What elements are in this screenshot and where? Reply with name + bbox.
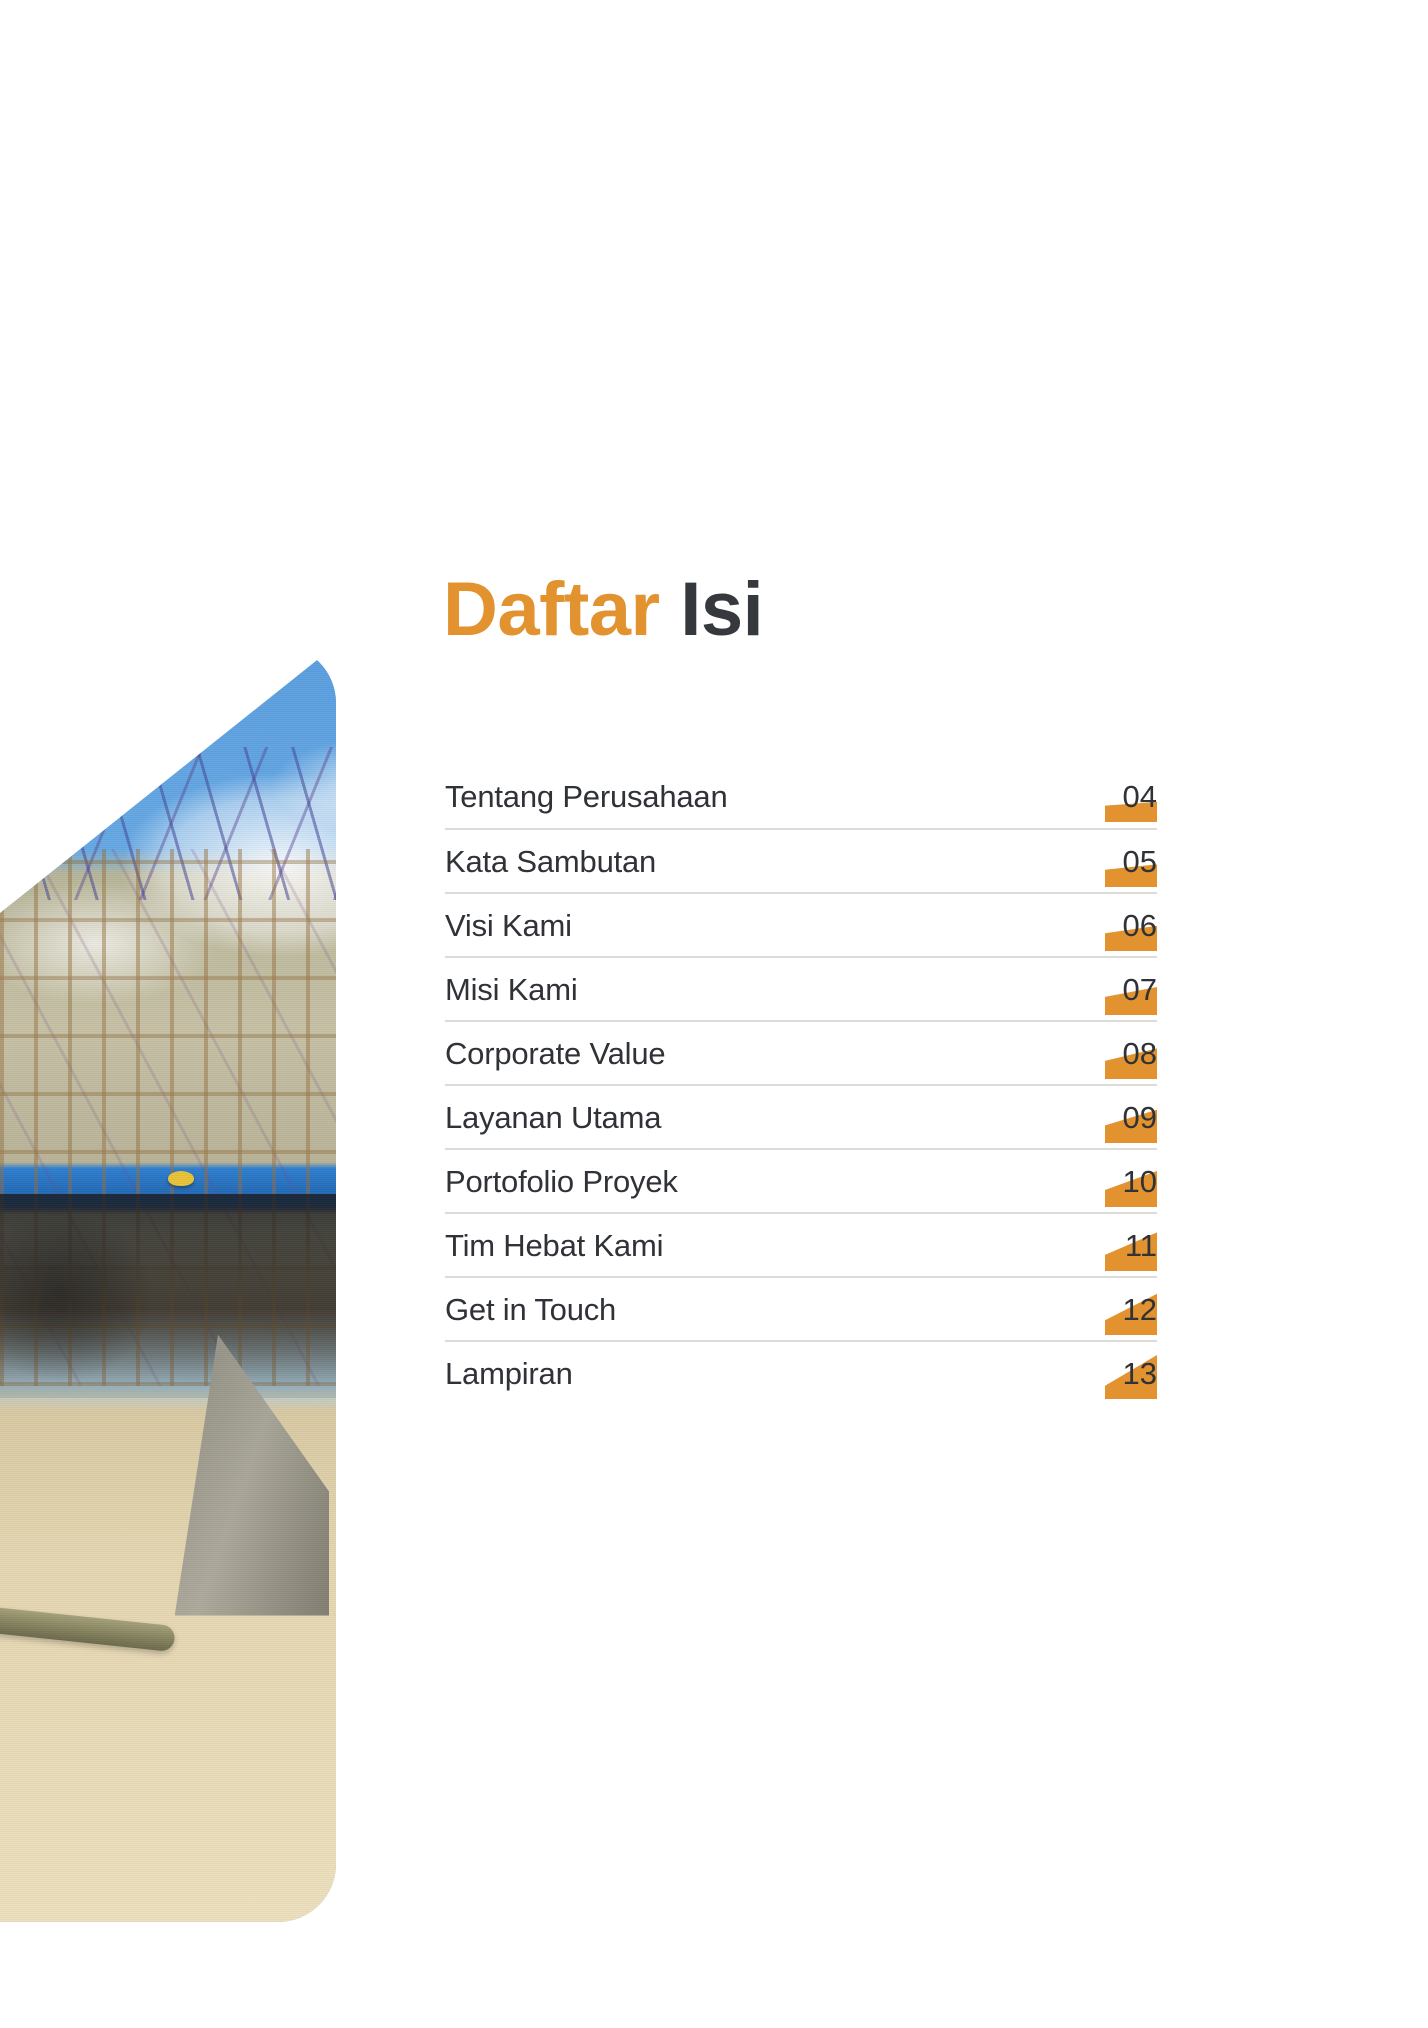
wooden-pole-overlay	[0, 1605, 176, 1651]
scaffolding-overlay	[0, 849, 336, 1385]
construction-site-photo	[0, 645, 336, 1922]
cover-photo-panel	[0, 645, 336, 1922]
photo-grain-overlay	[0, 645, 336, 1922]
toc-item-label: Lampiran	[445, 1358, 573, 1389]
toc-row[interactable]: Misi Kami07	[445, 956, 1157, 1020]
page-title-accent: Daftar	[443, 567, 660, 652]
toc-row[interactable]: Portofolio Proyek10	[445, 1148, 1157, 1212]
page-title: Daftar Isi	[443, 572, 763, 648]
table-of-contents: Tentang Perusahaan04Kata Sambutan05Visi …	[445, 764, 1157, 1404]
toc-item-label: Get in Touch	[445, 1294, 616, 1325]
scaffold-frame-overlay	[0, 747, 336, 900]
toc-item-label: Layanan Utama	[445, 1102, 661, 1133]
page-title-dark: Isi	[680, 567, 763, 652]
toc-page-number-marker: 07	[1101, 961, 1157, 1017]
toc-page-number-marker: 13	[1101, 1345, 1157, 1401]
toc-page-number-marker: 08	[1101, 1025, 1157, 1081]
toc-row[interactable]: Layanan Utama09	[445, 1084, 1157, 1148]
toc-row[interactable]: Kata Sambutan05	[445, 828, 1157, 892]
document-page: Daftar Isi Tentang Perusahaan04Kata Samb…	[0, 0, 1428, 2028]
toc-page-number-marker: 05	[1101, 833, 1157, 889]
toc-row[interactable]: Corporate Value08	[445, 1020, 1157, 1084]
toc-page-number-marker: 10	[1101, 1153, 1157, 1209]
debris-shadow-overlay	[0, 1194, 336, 1398]
toc-page-number: 06	[1123, 910, 1157, 941]
toc-row[interactable]: Get in Touch12	[445, 1276, 1157, 1340]
hard-hat-icon	[168, 1171, 194, 1186]
concrete-block-overlay	[175, 1335, 330, 1616]
toc-item-label: Visi Kami	[445, 910, 572, 941]
toc-row[interactable]: Tentang Perusahaan04	[445, 764, 1157, 828]
toc-page-number: 07	[1123, 974, 1157, 1005]
toc-page-number-marker: 04	[1101, 768, 1157, 824]
toc-page-number-marker: 09	[1101, 1089, 1157, 1145]
toc-item-label: Portofolio Proyek	[445, 1166, 678, 1197]
toc-page-number: 09	[1123, 1102, 1157, 1133]
toc-page-number-marker: 11	[1101, 1217, 1157, 1273]
toc-page-number: 13	[1123, 1358, 1157, 1389]
toc-page-number: 12	[1123, 1294, 1157, 1325]
toc-item-label: Tentang Perusahaan	[445, 781, 728, 812]
toc-page-number: 04	[1123, 781, 1157, 812]
toc-row[interactable]: Visi Kami06	[445, 892, 1157, 956]
toc-row[interactable]: Lampiran13	[445, 1340, 1157, 1404]
toc-page-number-marker: 12	[1101, 1281, 1157, 1337]
toc-page-number: 10	[1123, 1166, 1157, 1197]
toc-page-number: 05	[1123, 846, 1157, 877]
photo-clip-shape	[0, 645, 336, 1922]
toc-item-label: Tim Hebat Kami	[445, 1230, 663, 1261]
toc-page-number-marker: 06	[1101, 897, 1157, 953]
toc-page-number: 11	[1125, 1230, 1157, 1261]
toc-item-label: Misi Kami	[445, 974, 578, 1005]
toc-item-label: Corporate Value	[445, 1038, 665, 1069]
toc-row[interactable]: Tim Hebat Kami11	[445, 1212, 1157, 1276]
toc-item-label: Kata Sambutan	[445, 846, 656, 877]
toc-page-number: 08	[1123, 1038, 1157, 1069]
